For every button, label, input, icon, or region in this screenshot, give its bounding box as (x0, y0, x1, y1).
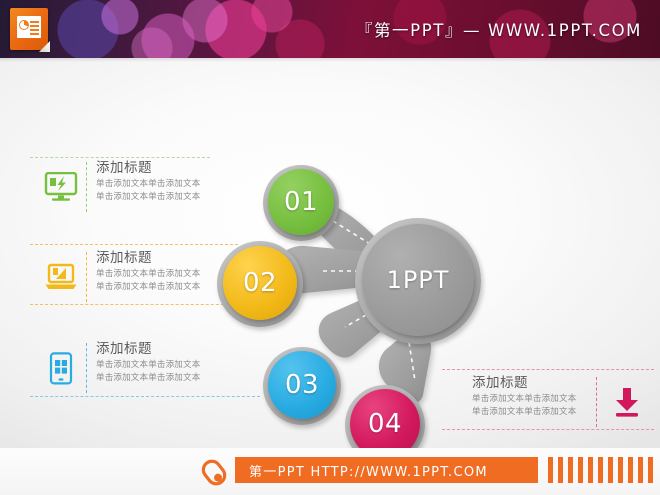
site-header-banner: 『第一PPT』— WWW.1PPT.COM (0, 0, 660, 58)
diagram-node-03[interactable]: 03 (263, 347, 341, 425)
node-03-number: 03 (285, 370, 319, 400)
block-body-line2-03: 单击添加文本单击添加文本 (96, 373, 200, 384)
block-title-02: 添加标题 (96, 250, 200, 267)
block-divider-03 (86, 343, 87, 393)
node-02-disc: 02 (223, 246, 297, 320)
node-04-number: 04 (368, 409, 402, 439)
block-divider-02 (86, 252, 87, 302)
footer-url-text: 第一PPT HTTP://WWW.1PPT.COM (235, 461, 488, 480)
block-text-03: 添加标题 单击添加文本单击添加文本 单击添加文本单击添加文本 (96, 341, 200, 384)
desktop-monitor-icon (38, 158, 84, 216)
node-03-disc: 03 (268, 351, 336, 419)
footer-stripe (588, 457, 593, 483)
footer-stripe (638, 457, 643, 483)
block-body-line2-01: 单击添加文本单击添加文本 (96, 192, 200, 203)
footer-stripe (608, 457, 613, 483)
node-01-number: 01 (284, 187, 318, 217)
laptop-icon (38, 248, 84, 306)
footer-stripe (598, 457, 603, 483)
node-01-disc: 01 (268, 169, 334, 235)
slide-canvas: 『第一PPT』— WWW.1PPT.COM 添加标题 (0, 0, 660, 495)
radial-diagram: 1PPT 01 02 03 (205, 113, 505, 443)
diagram-node-02[interactable]: 02 (217, 241, 303, 327)
footer-url-bar: 第一PPT HTTP://WWW.1PPT.COM (235, 457, 538, 483)
block-divider-01 (86, 162, 87, 212)
center-node-label: 1PPT (387, 266, 450, 294)
powerpoint-document-icon (10, 8, 50, 52)
footer-stripe (628, 457, 633, 483)
download-arrow-icon (604, 373, 650, 431)
footer-stripe (568, 457, 573, 483)
diagram-center-node[interactable]: 1PPT (355, 218, 481, 344)
footer-stripes (548, 457, 660, 483)
node-02-number: 02 (243, 268, 277, 298)
slide-body: 添加标题 单击添加文本单击添加文本 单击添加文本单击添加文本 添加标题 单击添加… (0, 58, 660, 448)
footer-stripe (578, 457, 583, 483)
block-divider-04 (596, 377, 597, 427)
footer-banner: 第一PPT HTTP://WWW.1PPT.COM (0, 448, 660, 495)
paperclip-capsule-icon (196, 456, 236, 486)
footer-stripe (648, 457, 653, 483)
smartphone-icon (38, 339, 84, 397)
footer-stripe (558, 457, 563, 483)
block-text-02: 添加标题 单击添加文本单击添加文本 单击添加文本单击添加文本 (96, 250, 200, 293)
header-title: 『第一PPT』— WWW.1PPT.COM (356, 17, 642, 41)
block-body-line1-01: 单击添加文本单击添加文本 (96, 179, 200, 190)
block-body-line1-03: 单击添加文本单击添加文本 (96, 360, 200, 371)
diagram-node-01[interactable]: 01 (263, 165, 339, 241)
block-title-01: 添加标题 (96, 160, 200, 177)
footer-stripe (548, 457, 553, 483)
block-title-03: 添加标题 (96, 341, 200, 358)
center-node-disc: 1PPT (362, 224, 474, 336)
footer-stripe (618, 457, 623, 483)
block-text-01: 添加标题 单击添加文本单击添加文本 单击添加文本单击添加文本 (96, 160, 200, 203)
block-body-line1-02: 单击添加文本单击添加文本 (96, 269, 200, 280)
block-body-line2-02: 单击添加文本单击添加文本 (96, 282, 200, 293)
